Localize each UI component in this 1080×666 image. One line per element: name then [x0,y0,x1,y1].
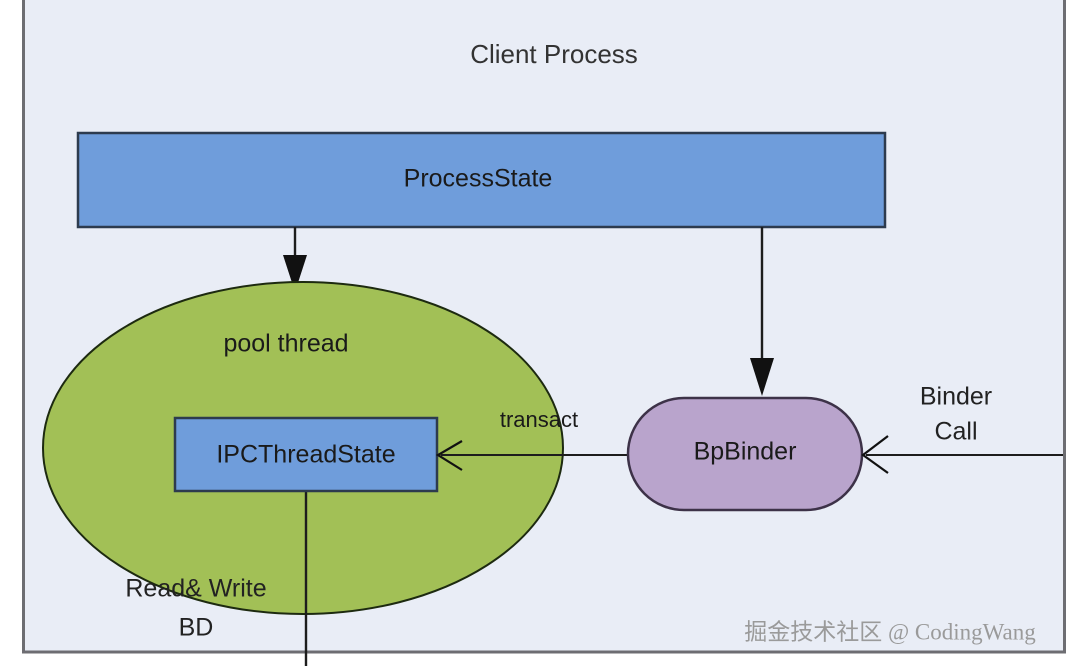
binder-architecture-diagram: Client Process ProcessState pool thread … [0,0,1080,666]
read-write-label-line2: BD [179,614,214,642]
bp-binder-label: BpBinder [694,438,797,466]
pool-thread-label: pool thread [223,330,348,358]
transact-edge-label: transact [500,407,578,432]
page-title: Client Process [470,39,638,69]
process-state-label: ProcessState [404,165,553,193]
watermark-label: 掘金技术社区 @ CodingWang [744,619,1036,644]
binder-call-label-line1: Binder [920,383,992,411]
diagram-canvas: Client Process ProcessState pool thread … [0,0,1080,666]
ipc-thread-state-label: IPCThreadState [216,441,395,469]
read-write-label-line1: Read& Write [125,575,266,603]
binder-call-label-line2: Call [934,418,977,446]
